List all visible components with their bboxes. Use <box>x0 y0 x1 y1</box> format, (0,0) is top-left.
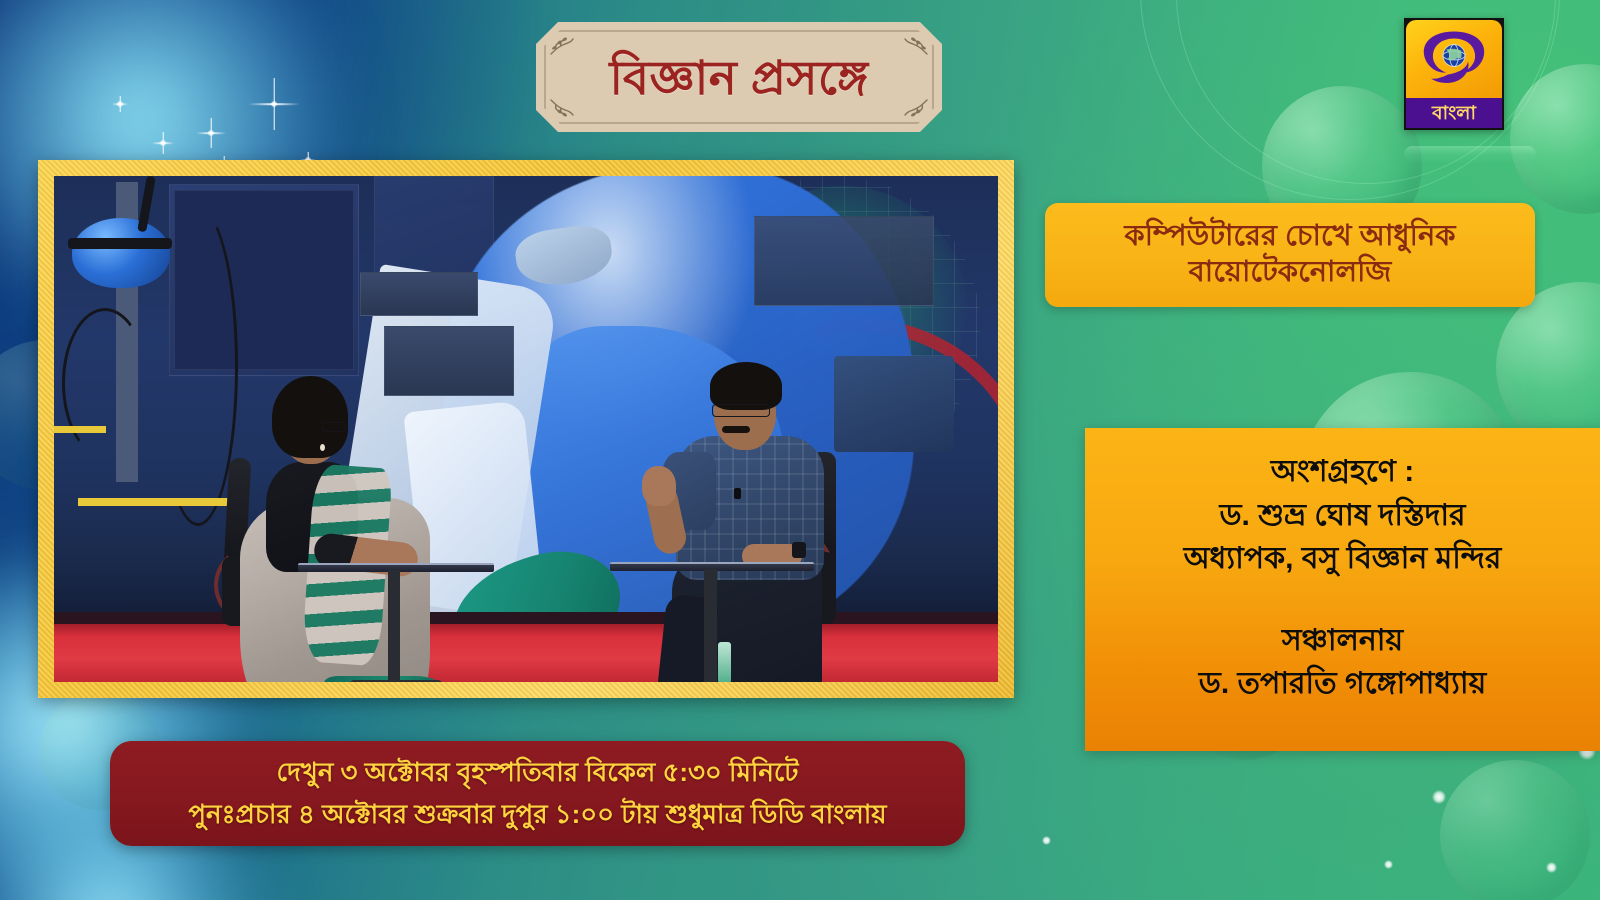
host-label: সঞ্চালনায় <box>1282 619 1403 663</box>
equipment-lamp-strap <box>68 238 172 249</box>
background-dot <box>1042 836 1051 845</box>
vine-ornament-icon <box>903 34 929 56</box>
program-title: বিজ্ঞান প্রসঙ্গে <box>609 54 868 101</box>
participants-label: অংশগ্রহণে : <box>1271 450 1414 494</box>
topic-line-2: বায়োটেকনোলজি <box>1189 255 1392 291</box>
person-host <box>204 276 494 676</box>
guest-watch-icon <box>792 542 806 558</box>
dd-swirl-icon <box>1418 28 1490 91</box>
host-glasses-icon <box>322 422 346 432</box>
guest-hair <box>710 362 782 410</box>
guest-table-stem <box>388 570 400 682</box>
logo-language-strip: বাংলা <box>1406 98 1502 128</box>
equipment-cable <box>62 308 148 458</box>
vine-ornament-icon <box>903 98 929 120</box>
vine-ornament-icon <box>549 98 575 120</box>
equipment-stripe <box>54 426 106 433</box>
dd-bangla-logo: বাংলা <box>1404 18 1504 130</box>
program-title-plaque: বিজ্ঞান প্রসঙ্গে <box>536 22 942 132</box>
guest-hand <box>642 466 676 506</box>
water-bottle-icon <box>718 642 731 682</box>
cast-credits-box: অংশগ্রহণে : ড. শুভ্র ঘোষ দস্তিদার অধ্যাপ… <box>1085 428 1600 751</box>
schedule-line-2: পুনঃপ্রচার ৪ অক্টোবর শুক্রবার দুপুর ১:০০… <box>188 794 886 836</box>
background-dot <box>1384 860 1393 869</box>
guest-affiliation: অধ্যাপক, বসু বিজ্ঞান মন্দির <box>1184 537 1502 581</box>
logo-language-label: বাংলা <box>1432 104 1476 123</box>
guest-mic-icon <box>734 488 741 499</box>
molecule-bubble <box>1440 760 1590 900</box>
episode-photo-frame <box>38 160 1014 698</box>
episode-photo <box>54 176 998 682</box>
person-guest <box>614 266 904 682</box>
host-hair <box>272 376 348 458</box>
background-dot <box>1546 862 1557 873</box>
host-earring-icon <box>320 444 325 451</box>
topic-line-1: কম্পিউটারের চোখে আধুনিক <box>1124 219 1455 255</box>
host-table-stem <box>704 569 717 682</box>
logo-emblem <box>1406 20 1502 98</box>
host-name: ড. তপারতি গঙ্গোপাধ্যায় <box>1199 662 1487 706</box>
guest-glasses-icon <box>712 404 770 417</box>
guest-moustache <box>722 426 750 433</box>
episode-topic-box: কম্পিউটারের চোখে আধুনিক বায়োটেকনোলজি <box>1045 203 1535 307</box>
equipment-lamp <box>72 218 170 288</box>
vine-ornament-icon <box>549 34 575 56</box>
background-dot <box>1432 790 1446 804</box>
guest-name: ড. শুভ্র ঘোষ দস্তিদার <box>1219 494 1465 538</box>
schedule-line-1: দেখুন ৩ অক্টোবর বৃহস্পতিবার বিকেল ৫:৩০ ম… <box>277 752 799 794</box>
guest-table-base <box>350 680 442 682</box>
broadcast-schedule-banner: দেখুন ৩ অক্টোবর বৃহস্পতিবার বিকেল ৫:৩০ ম… <box>110 741 965 846</box>
